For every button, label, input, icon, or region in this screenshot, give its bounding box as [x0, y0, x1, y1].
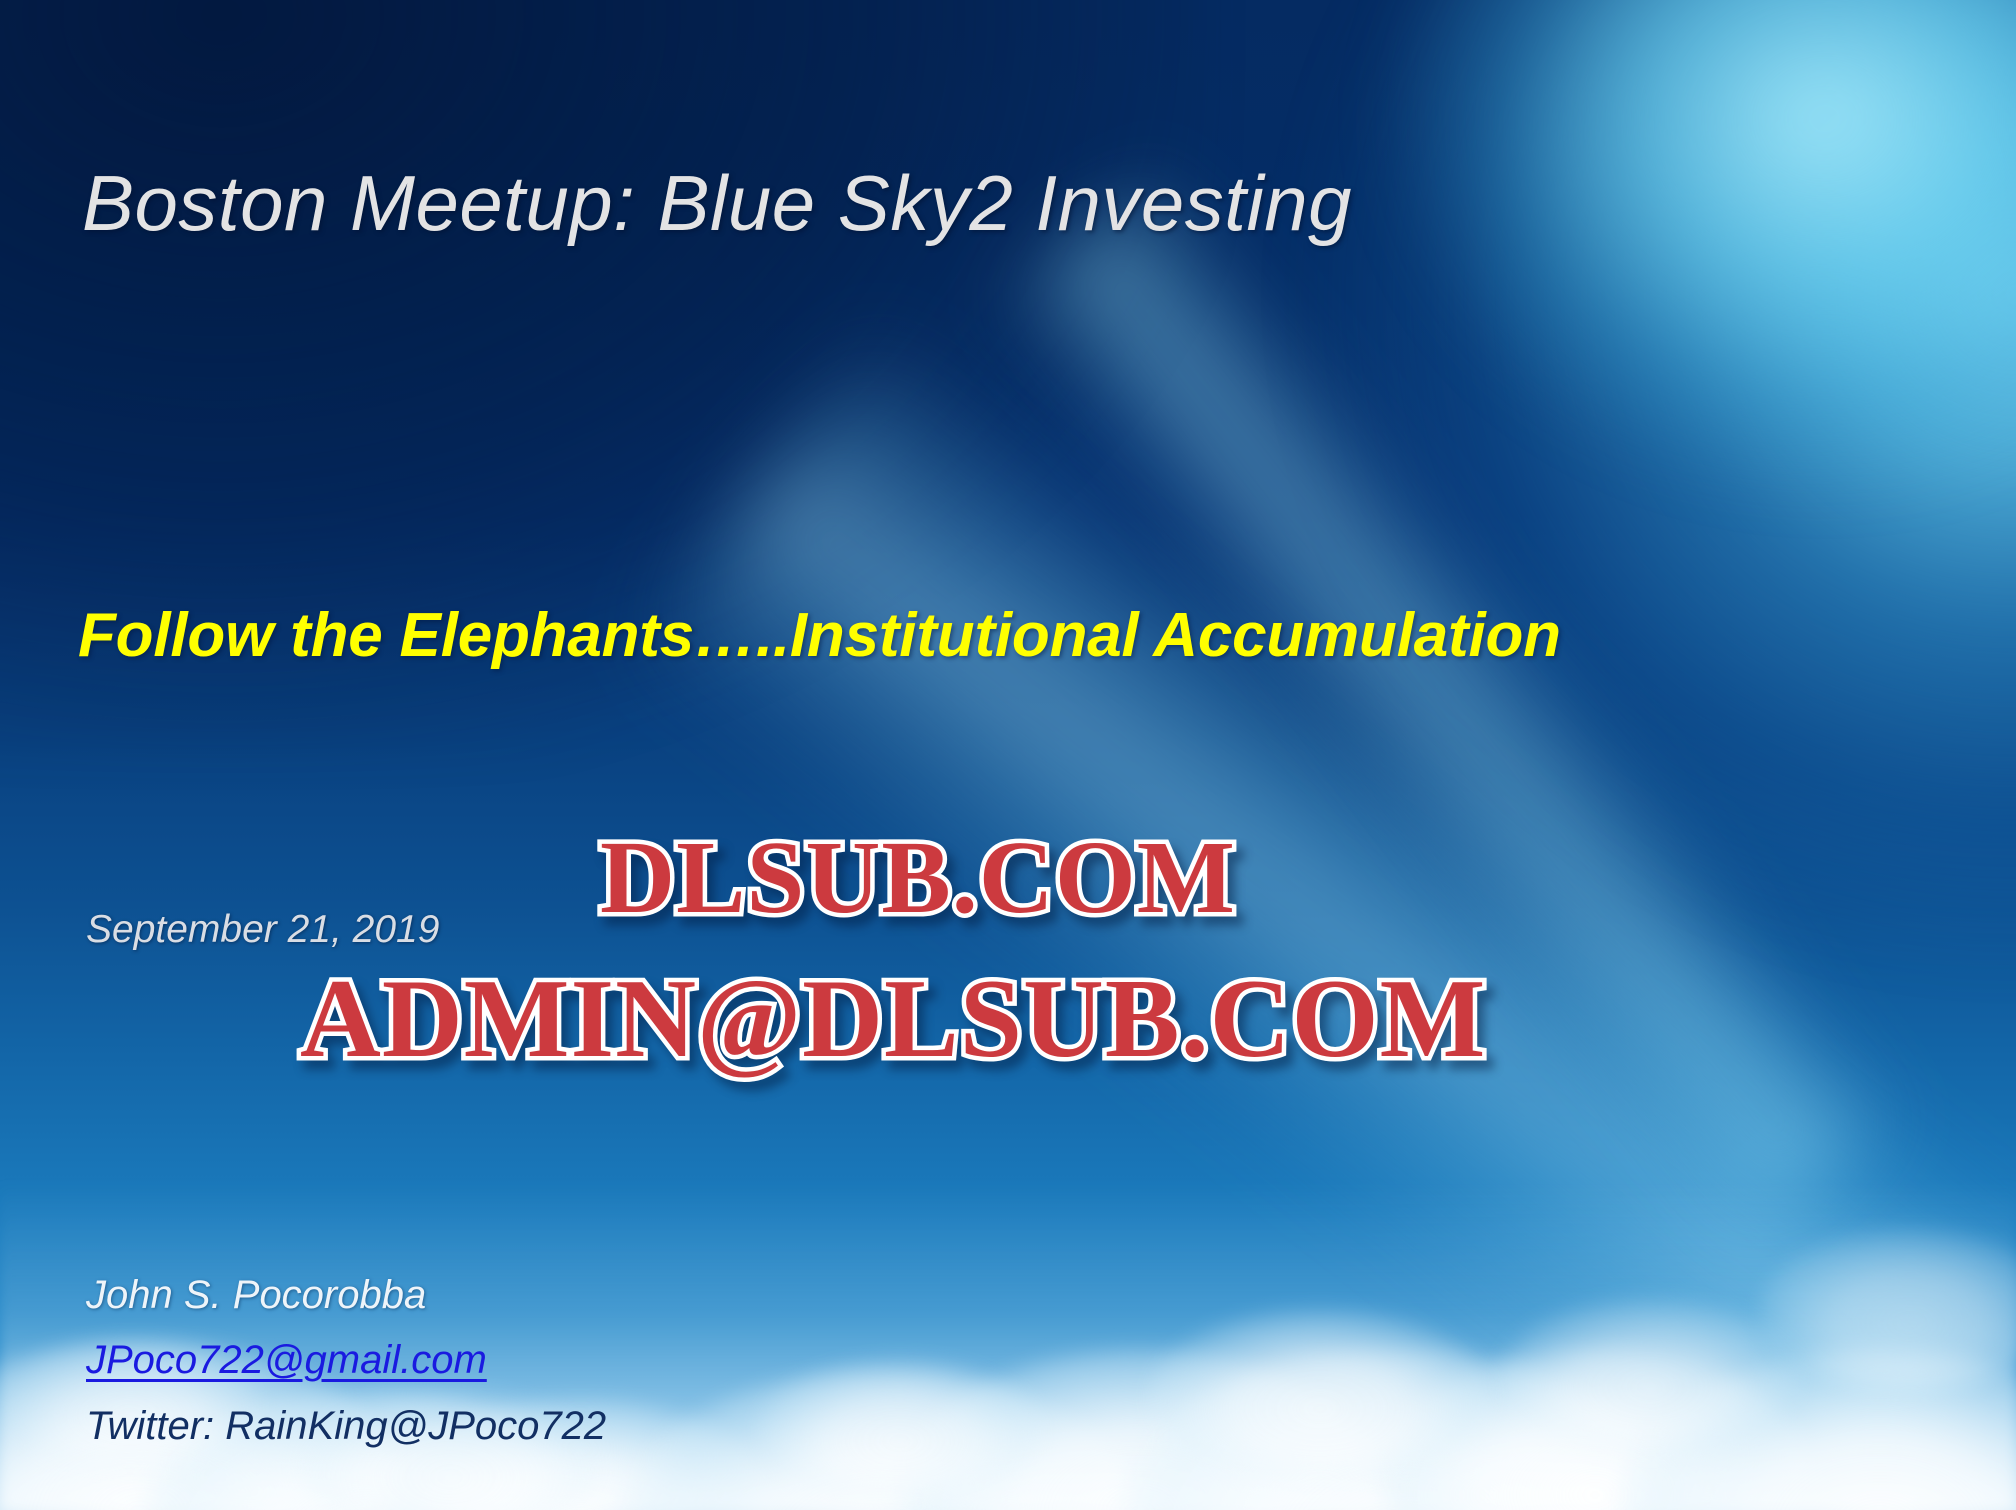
presentation-slide: Boston Meetup: Blue Sky2 Investing Follo…	[0, 0, 2016, 1510]
author-name: John S. Pocorobba	[86, 1273, 426, 1318]
slide-title: Boston Meetup: Blue Sky2 Investing	[82, 158, 1352, 249]
watermark-site-url: DLSUB.COM	[600, 818, 1236, 937]
slide-date: September 21, 2019	[86, 908, 439, 952]
author-twitter-handle: Twitter: RainKing@JPoco722	[86, 1404, 606, 1449]
slide-subtitle: Follow the Elephants…..Institutional Acc…	[78, 600, 1561, 671]
corner-glow-highlight	[1250, 0, 2016, 574]
author-email-link[interactable]: JPoco722@gmail.com	[86, 1338, 487, 1383]
watermark-contact-email: ADMIN@DLSUB.COM	[300, 955, 1486, 1084]
